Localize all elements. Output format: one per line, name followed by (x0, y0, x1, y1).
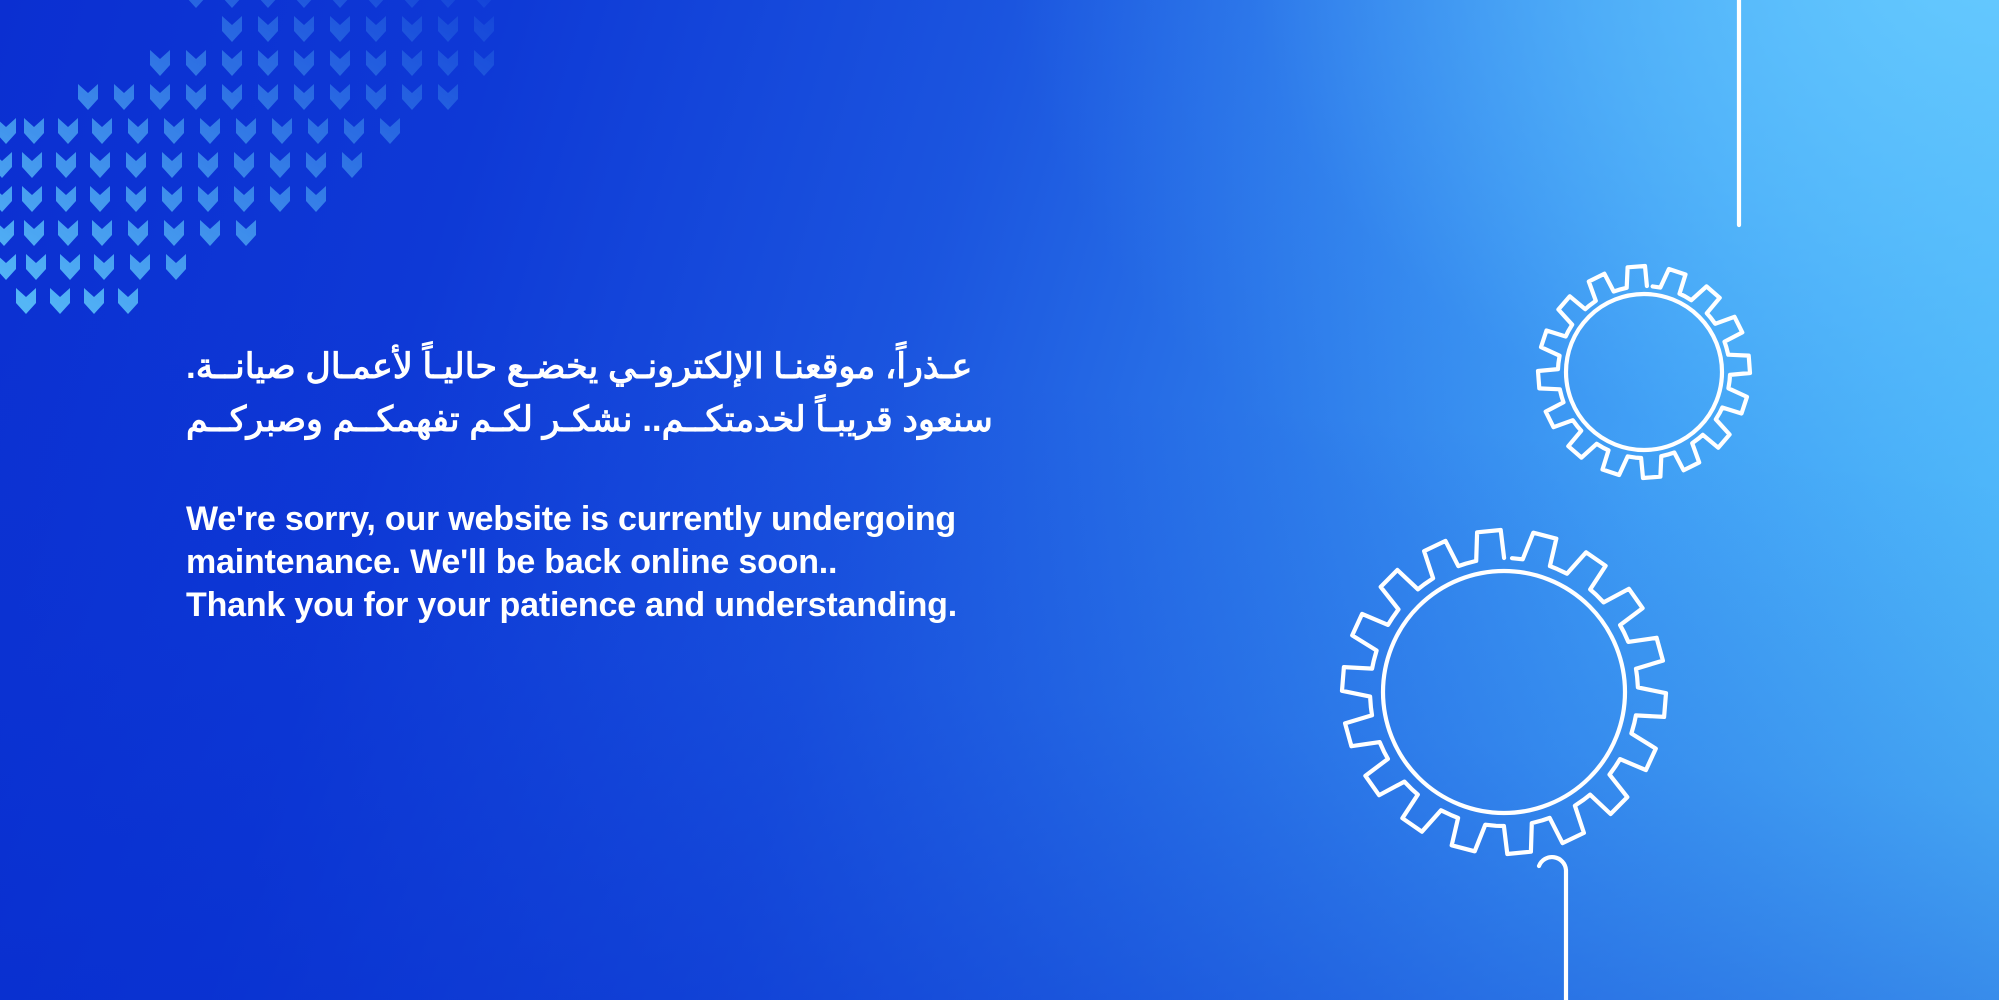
small-gear-hub (1566, 294, 1722, 450)
english-line-2: maintenance. We'll be back online soon.. (186, 541, 1146, 584)
arabic-message: عـذراً، موقعنـا الإلكترونـي يخضـع حاليـا… (186, 340, 1146, 446)
large-gear (1342, 530, 1666, 854)
maintenance-message: عـذراً، موقعنـا الإلكترونـي يخضـع حاليـا… (186, 340, 1146, 627)
english-line-3: Thank you for your patience and understa… (186, 584, 1146, 627)
bottom-connector-line (1539, 857, 1566, 1000)
english-message: We're sorry, our website is currently un… (186, 498, 1146, 627)
arabic-line-1: عـذراً، موقعنـا الإلكترونـي يخضـع حاليـا… (186, 340, 1146, 393)
arabic-line-2: سنعود قريبـاً لخدمتكــم.. نشكـر لكـم تفه… (186, 393, 1146, 446)
chevron-pattern-decoration (0, 0, 520, 340)
large-gear-hub (1383, 571, 1625, 813)
gears-decoration (1239, 0, 1999, 1000)
english-line-1: We're sorry, our website is currently un… (186, 498, 1146, 541)
maintenance-page: عـذراً، موقعنـا الإلكترونـي يخضـع حاليـا… (0, 0, 1999, 1000)
small-gear (1538, 266, 1750, 478)
